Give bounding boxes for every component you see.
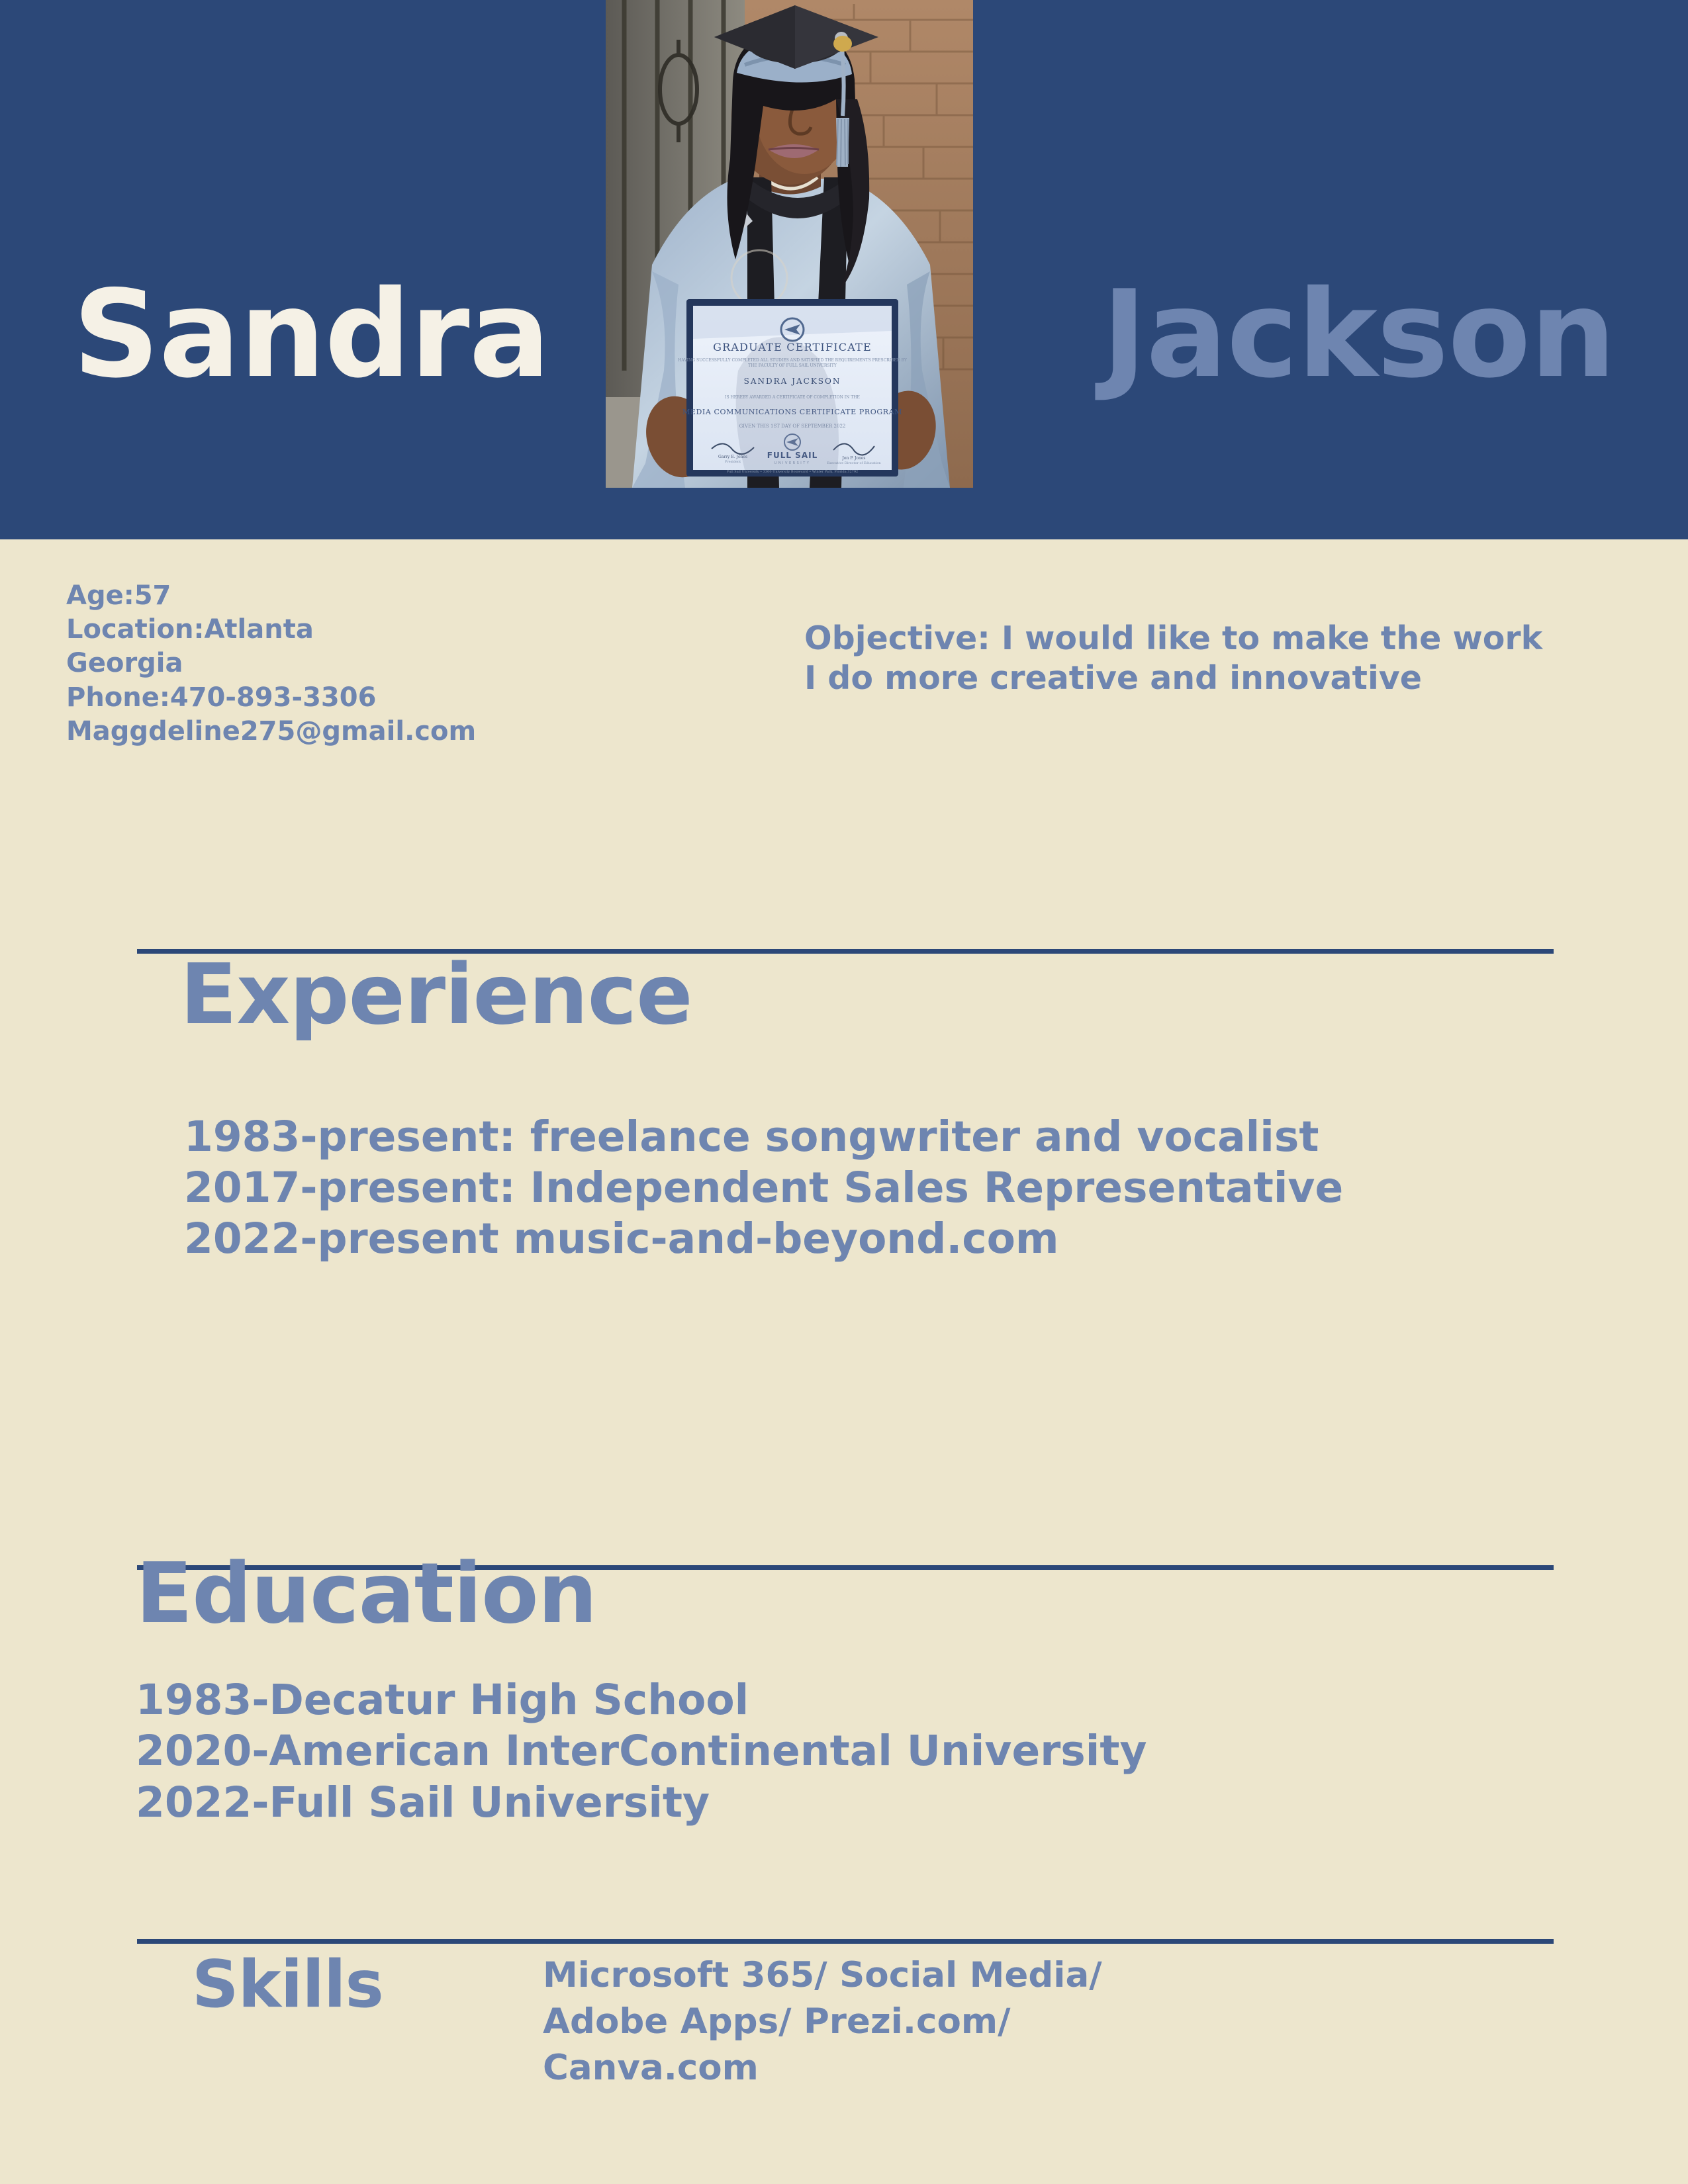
education-entry: 2022-Full Sail University xyxy=(136,1777,1552,1828)
skills-divider xyxy=(137,1939,1554,1944)
experience-entry: 1983-present: freelance songwriter and v… xyxy=(184,1112,1554,1163)
experience-entry: 2017-present: Independent Sales Represen… xyxy=(184,1163,1554,1214)
contact-email: Maggdeline275@gmail.com xyxy=(66,715,662,749)
education-entries: 1983-Decatur High School 2020-American I… xyxy=(136,1674,1552,1828)
profile-photo: GRADUATE CERTIFICATE HAVING SUCCESSFULLY… xyxy=(606,0,973,488)
experience-heading: Experience xyxy=(180,953,692,1036)
education-entry: 2020-American InterContinental Universit… xyxy=(136,1725,1552,1776)
skills-heading: Skills xyxy=(192,1952,383,2017)
contact-age: Age:57 xyxy=(66,579,662,613)
skills-line: Adobe Apps/ Prezi.com/ xyxy=(543,1999,1337,2045)
skills-list: Microsoft 365/ Social Media/ Adobe Apps/… xyxy=(543,1952,1337,2091)
experience-entries: 1983-present: freelance songwriter and v… xyxy=(184,1112,1554,1265)
education-entry: 1983-Decatur High School xyxy=(136,1674,1552,1725)
first-name: Sandra xyxy=(73,274,549,394)
name-row: Sandra Jackson xyxy=(0,261,1688,407)
svg-text:Jon P. Jones: Jon P. Jones xyxy=(842,456,866,461)
contact-block: Age:57 Location:Atlanta Georgia Phone:47… xyxy=(66,579,662,749)
profile-photo-illustration: GRADUATE CERTIFICATE HAVING SUCCESSFULLY… xyxy=(606,0,973,488)
contact-location: Location:Atlanta xyxy=(66,613,662,647)
svg-text:Full Sail University • 3300: Full Sail University • 3300 University B… xyxy=(727,470,858,474)
objective-text: Objective: I would like to make the work… xyxy=(804,619,1566,698)
last-name: Jackson xyxy=(1102,274,1615,394)
skills-line: Canva.com xyxy=(543,2045,1337,2091)
resume-page: GRADUATE CERTIFICATE HAVING SUCCESSFULLY… xyxy=(0,0,1688,2184)
experience-entry: 2022-present music-and-beyond.com xyxy=(184,1214,1554,1265)
education-heading: Education xyxy=(136,1552,596,1635)
svg-text:President: President xyxy=(725,460,741,464)
contact-phone: Phone:470-893-3306 xyxy=(66,681,662,715)
skills-line: Microsoft 365/ Social Media/ xyxy=(543,1952,1337,1999)
contact-state: Georgia xyxy=(66,647,662,680)
